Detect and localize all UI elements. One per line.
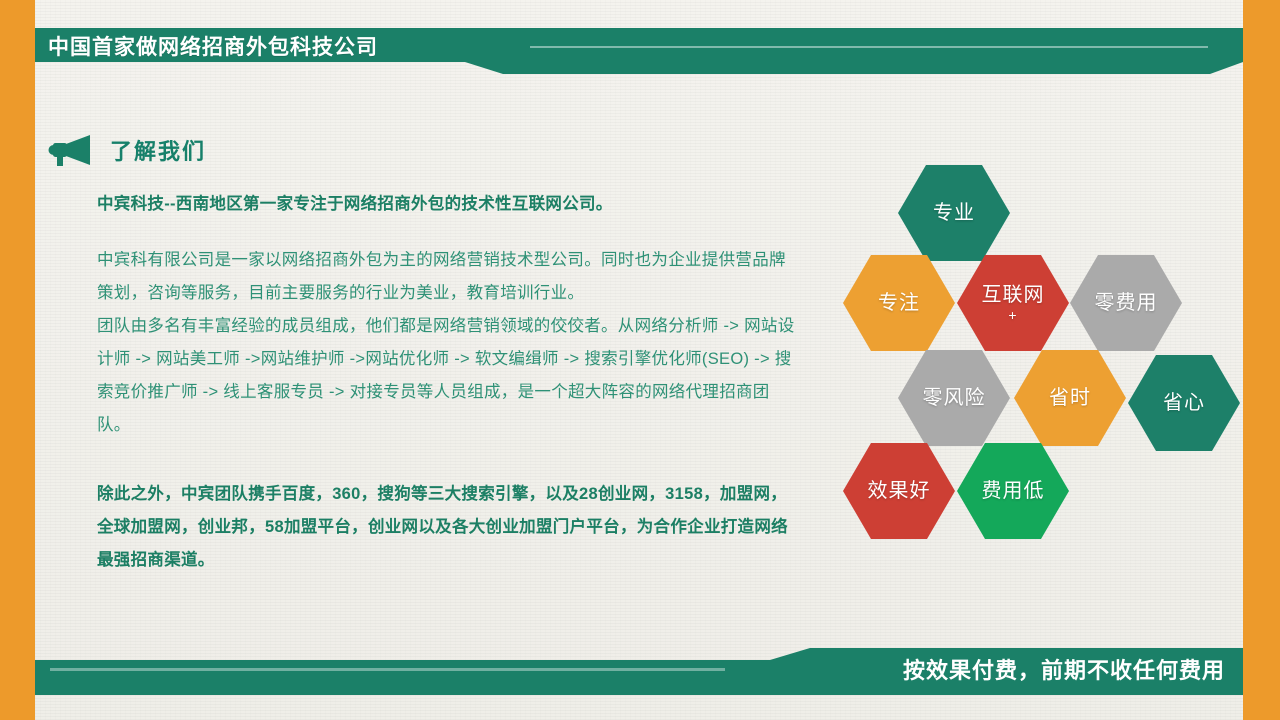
hexagon-sublabel: + [1008, 307, 1017, 323]
hexagon-label: 费用低 [982, 479, 1045, 503]
hexagon-tile: 费用低 [957, 443, 1069, 539]
section-title: 了解我们 [110, 134, 206, 166]
megaphone-icon [48, 133, 92, 167]
hexagon-tile: 省心 [1128, 355, 1240, 451]
body-paragraph-1: 中宾科有限公司是一家以网络招商外包为主的网络营销技术型公司。同时也为企业提供营品… [97, 244, 797, 310]
hexagon-label: 专注 [878, 291, 920, 315]
closing-paragraph: 除此之外，中宾团队携手百度，360，搜狗等三大搜索引擎，以及28创业网，3158… [97, 478, 797, 577]
hexagon-tile: 互联网+ [957, 255, 1069, 351]
hexagon-label: 省时 [1049, 386, 1091, 410]
hexagon-label: 专业 [933, 201, 975, 225]
hexagon-tile: 省时 [1014, 350, 1126, 446]
hexagon-cluster: 专业专注互联网+零费用零风险省时省心效果好费用低 [830, 155, 1250, 545]
hexagon-tile: 效果好 [843, 443, 955, 539]
slide-canvas: 中国首家做网络招商外包科技公司 了解我们 中宾科技--西南地区第一家专注于网络招… [0, 0, 1280, 720]
hexagon-label: 零费用 [1095, 291, 1158, 315]
hexagon-label: 零风险 [923, 386, 986, 410]
hexagon-tile: 零风险 [898, 350, 1010, 446]
hexagon-label: 效果好 [868, 479, 931, 503]
body-text-column: 中宾科技--西南地区第一家专注于网络招商外包的技术性互联网公司。 中宾科有限公司… [97, 190, 797, 577]
page-title: 中国首家做网络招商外包科技公司 [48, 31, 378, 65]
hexagon-label: 互联网 [982, 283, 1045, 307]
footer-divider-line [50, 668, 725, 671]
header-divider-line [530, 46, 1208, 48]
hexagon-tile: 专注 [843, 255, 955, 351]
section-heading: 了解我们 [48, 133, 206, 167]
body-paragraph-2: 团队由多名有丰富经验的成员组成，他们都是网络营销领域的佼佼者。从网络分析师 ->… [97, 310, 797, 442]
hexagon-tile: 零费用 [1070, 255, 1182, 351]
hexagon-tile: 专业 [898, 165, 1010, 261]
hexagon-label: 省心 [1163, 391, 1205, 415]
lead-paragraph: 中宾科技--西南地区第一家专注于网络招商外包的技术性互联网公司。 [97, 190, 797, 218]
footer-tagline: 按效果付费，前期不收任何费用 [903, 651, 1225, 691]
